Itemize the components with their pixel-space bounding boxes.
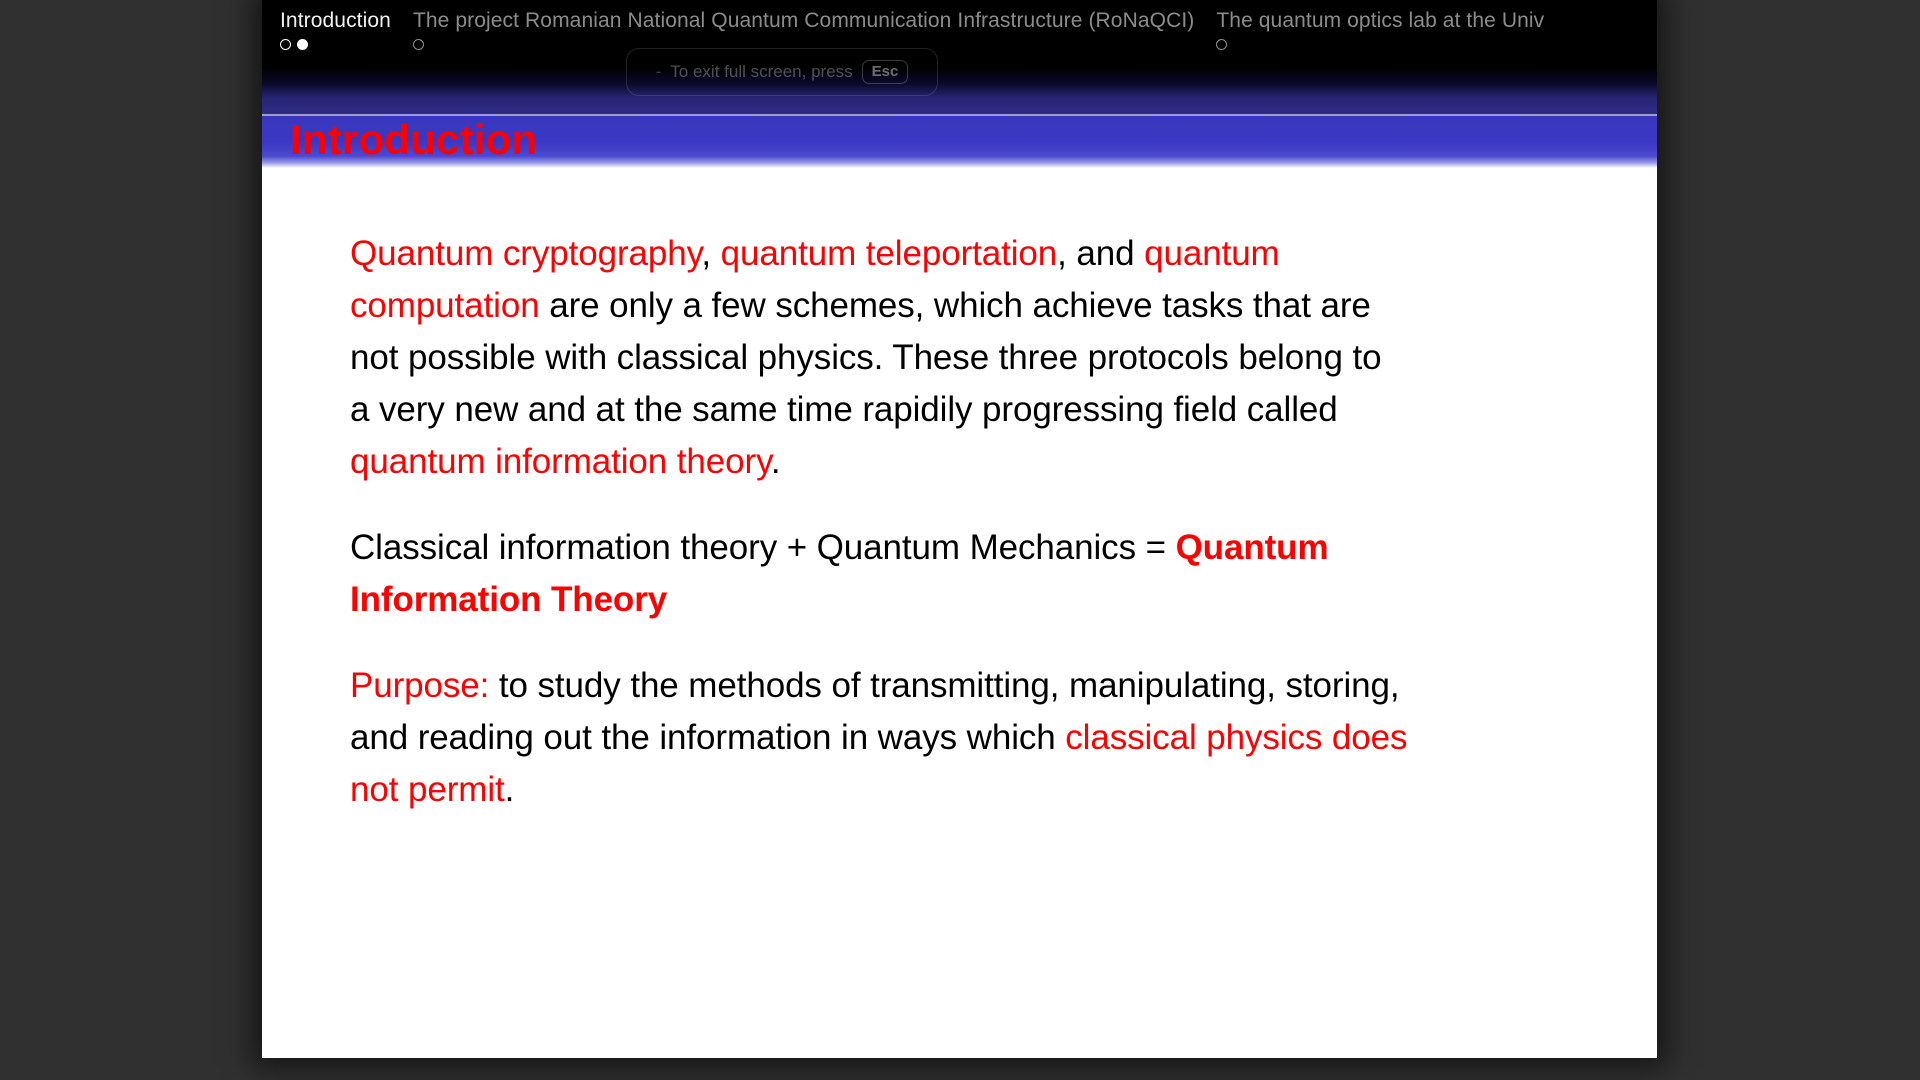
nav-item-label: The project Romanian National Quantum Co… [413,8,1194,34]
nav-item-slide-dots[interactable] [413,39,424,50]
text-run: , [701,234,720,273]
nav-item-label: Introduction [280,8,391,34]
text-run: . [771,442,781,481]
slide-navigation-bar[interactable]: IntroductionThe project Romanian Nationa… [262,0,1657,68]
nav-item-label: The quantum optics lab at the Univ [1216,8,1544,34]
text-run: Quantum cryptography [350,234,701,273]
presentation-window: IntroductionThe project Romanian Nationa… [262,0,1657,1058]
nav-item-slide-dots[interactable] [280,39,308,50]
text-run: . [505,770,515,809]
nav-item-2[interactable]: The project Romanian National Quantum Co… [413,8,1194,50]
text-run: quantum teleportation [721,234,1057,273]
slide-canvas: Introduction Quantum cryptography, quant… [262,68,1657,1058]
slide-paragraph: Purpose: to study the methods of transmi… [350,660,1410,816]
slide-dot-icon[interactable] [413,39,424,50]
nav-item-3[interactable]: The quantum optics lab at the Univ [1216,8,1544,50]
slide-title-band: Introduction [262,68,1657,168]
slide-paragraph: Classical information theory + Quantum M… [350,522,1410,626]
text-run: quantum information theory [350,442,771,481]
text-run: Purpose: [350,666,489,705]
text-run: , and [1057,234,1144,273]
slide-paragraph: Quantum cryptography, quantum teleportat… [350,228,1410,488]
page-title: Introduction [290,116,537,164]
slide-body: Quantum cryptography, quantum teleportat… [262,168,1657,816]
text-run: Classical information theory + Quantum M… [350,528,1176,567]
slide-dot-current-icon[interactable] [297,39,308,50]
screen: IntroductionThe project Romanian Nationa… [0,0,1920,1080]
slide-dot-icon[interactable] [1216,39,1227,50]
nav-item-1[interactable]: Introduction [280,8,391,50]
slide-dot-icon[interactable] [280,39,291,50]
nav-item-slide-dots[interactable] [1216,39,1227,50]
